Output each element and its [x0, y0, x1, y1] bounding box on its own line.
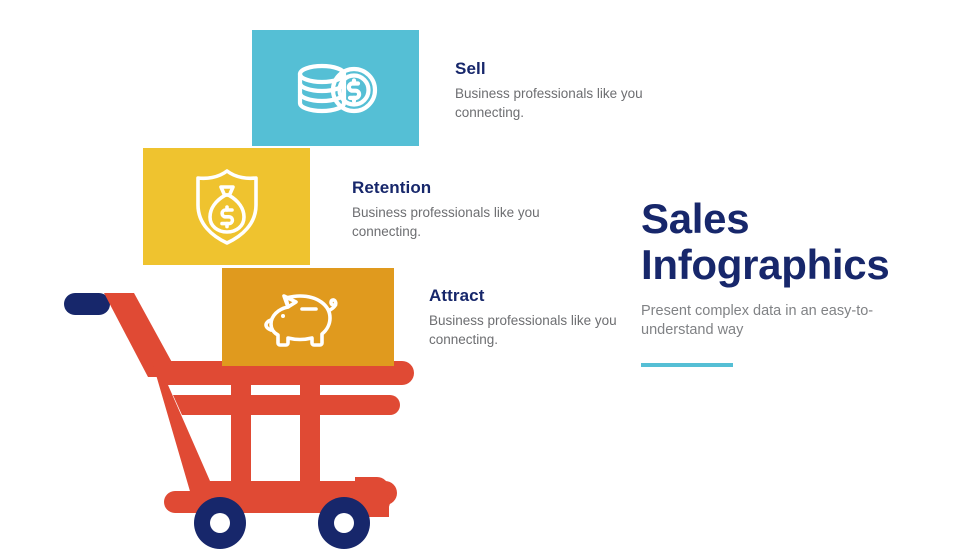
step-title-attract: Attract	[429, 287, 619, 306]
step-tile-retention	[143, 148, 310, 265]
stacked-coins-icon	[292, 59, 380, 117]
cart-basket-divider-vertical-1	[231, 361, 251, 483]
step-description-attract: Business professionals like you connecti…	[429, 311, 619, 349]
page-title: Sales Infographics	[641, 196, 941, 288]
shield-money-bag-icon	[191, 167, 263, 247]
page-title-line-2: Infographics	[641, 241, 889, 288]
page-subtitle: Present complex data in an easy-to-under…	[641, 302, 941, 341]
page-title-line-1: Sales	[641, 195, 749, 242]
cart-wheel-left-hub	[210, 513, 230, 533]
cart-handle-grip	[64, 293, 110, 315]
step-description-sell: Business professionals like you connecti…	[455, 84, 645, 122]
cart-basket-divider-horizontal	[173, 395, 400, 415]
cart-wheel-right-hub	[334, 513, 354, 533]
headline-block: Sales Infographics Present complex data …	[641, 196, 941, 367]
headline-accent-rule	[641, 363, 733, 367]
step-text-attract: Attract Business professionals like you …	[429, 287, 619, 349]
step-description-retention: Business professionals like you connecti…	[352, 203, 542, 241]
step-text-retention: Retention Business professionals like yo…	[352, 179, 542, 241]
cart-basket-divider-vertical-2	[300, 361, 320, 483]
step-title-sell: Sell	[455, 60, 645, 79]
step-tile-attract	[222, 268, 394, 366]
piggy-bank-icon	[264, 286, 352, 348]
step-tile-sell	[252, 30, 419, 146]
slide-canvas: Sell Business professionals like you con…	[0, 0, 980, 551]
step-title-retention: Retention	[352, 179, 542, 198]
step-text-sell: Sell Business professionals like you con…	[455, 60, 645, 122]
